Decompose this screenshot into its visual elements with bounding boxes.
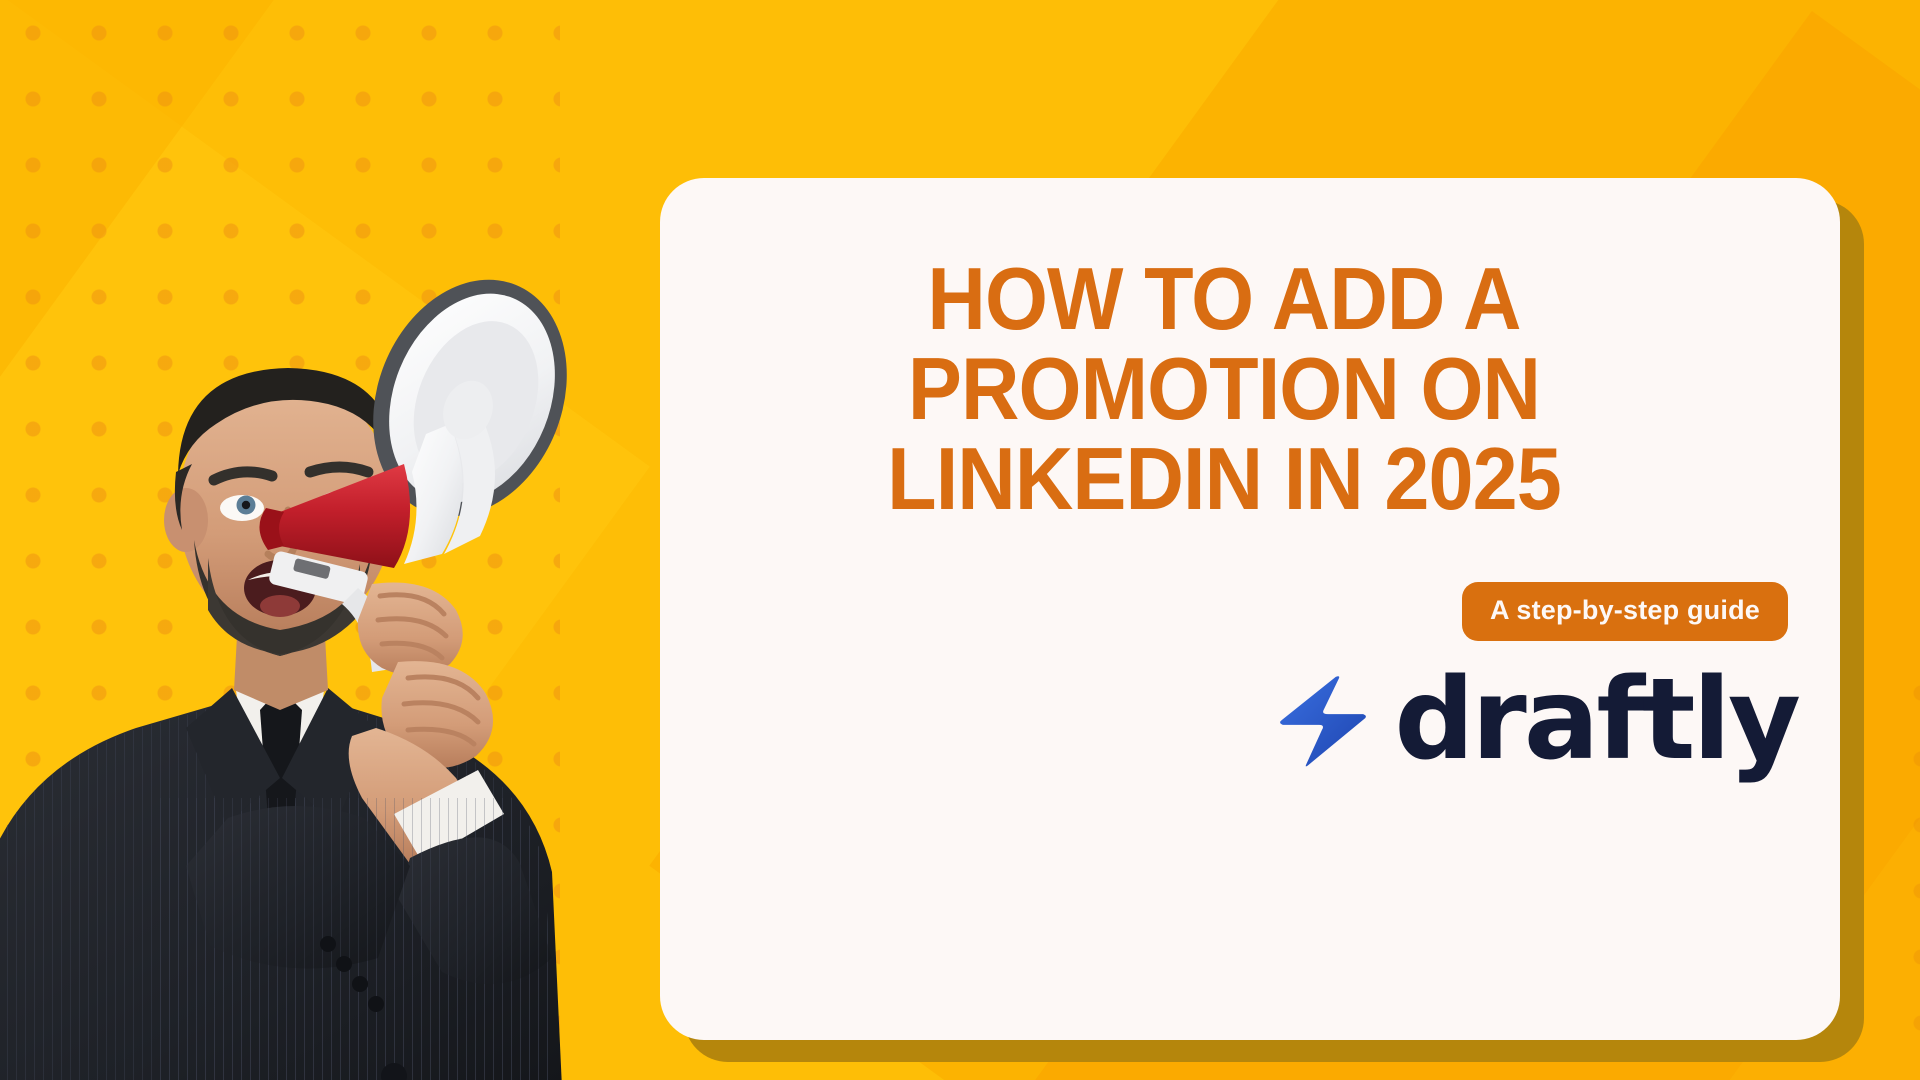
slide-canvas: HOW TO ADD A PROMOTION ON LINKEDIN IN 20…: [0, 0, 1920, 1080]
man-with-megaphone-illustration: [0, 258, 680, 1080]
content-card: HOW TO ADD A PROMOTION ON LINKEDIN IN 20…: [660, 178, 1840, 1040]
brand-wordmark: draftly: [1394, 664, 1798, 776]
status-badge: A step-by-step guide: [1462, 582, 1788, 641]
brand-logo: draftly: [1274, 664, 1798, 776]
page-title: HOW TO ADD A PROMOTION ON LINKEDIN IN 20…: [705, 254, 1743, 523]
lightning-bolt-icon: [1274, 671, 1372, 769]
subtitle-badge-row: A step-by-step guide: [1462, 582, 1788, 641]
